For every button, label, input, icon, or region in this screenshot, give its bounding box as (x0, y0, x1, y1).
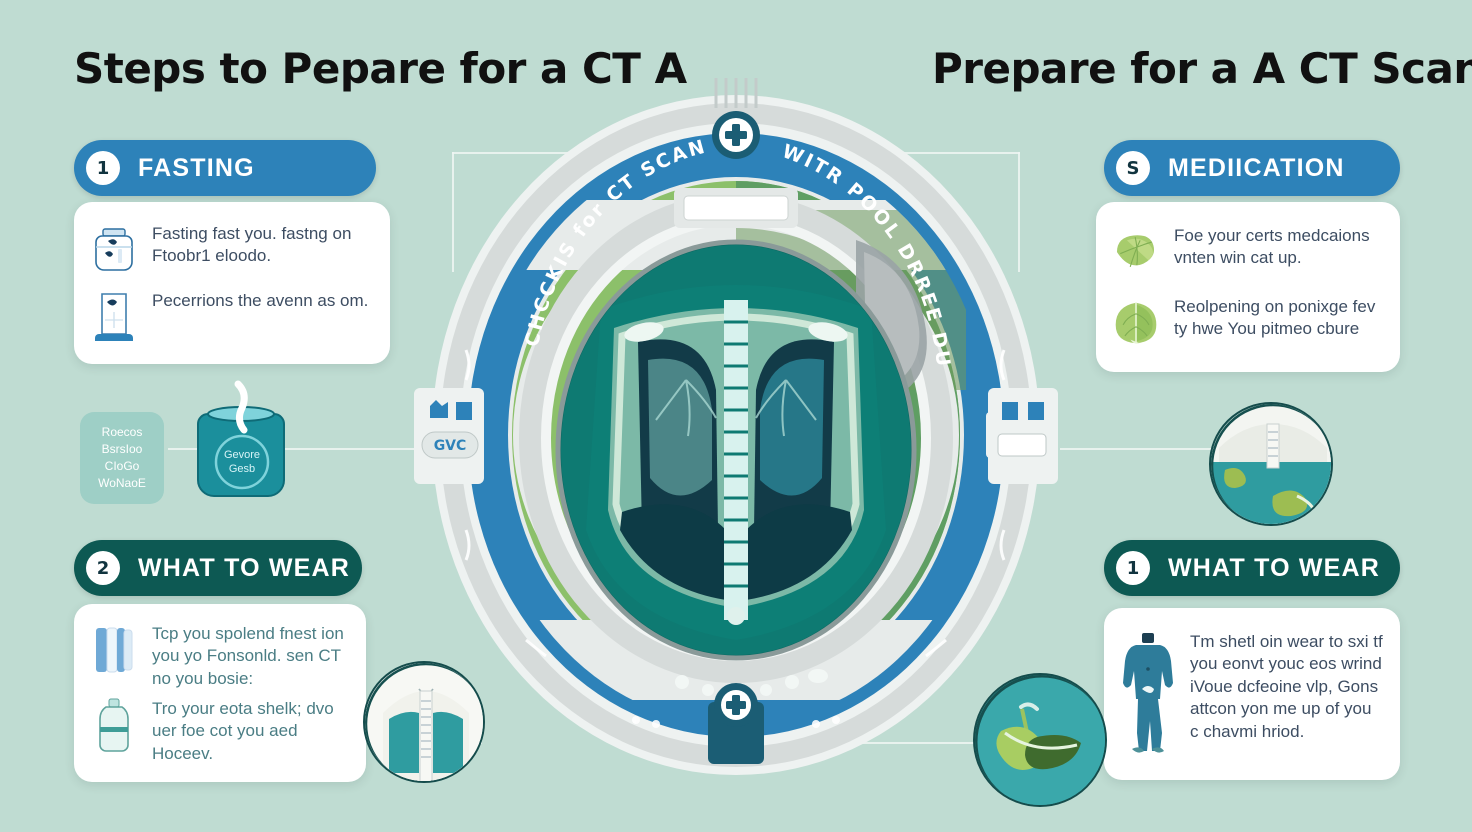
bag-label-line-1: Gevore (224, 449, 260, 461)
item-text: Reolpening on ponixge fev ty hwe You pit… (1174, 294, 1384, 341)
left-ring-module: GVC (414, 388, 484, 484)
list-item: Reolpening on ponixge fev ty hwe You pit… (1112, 294, 1384, 352)
item-text: Pecerrions the avenn as om. (152, 288, 368, 312)
leaf-cluster-icon (1112, 223, 1160, 281)
list-item: Fasting fast you. fastng on Ftoobr1 eloo… (90, 221, 374, 279)
item-text: Tm shetl oin wear to sxi tf you eonvt yo… (1190, 629, 1384, 743)
section-badge: 1 (1116, 551, 1150, 585)
section-badge: 2 (86, 551, 120, 585)
list-item: Tro your eota shelk; dvo uer foe cot you… (90, 696, 350, 765)
folded-gown-icon (90, 621, 138, 679)
list-item: Foe your certs medcaions vnten win cat u… (1112, 223, 1384, 281)
right-ring-module (988, 388, 1058, 484)
section-header-what-to-wear-left[interactable]: 2 WHAT TO WEAR (74, 540, 362, 596)
item-text: Fasting fast you. fastng on Ftoobr1 eloo… (152, 221, 374, 268)
water-bag-chip: Roecos BsrsIoo CIoGo WoNaoE (80, 412, 164, 504)
chip-line: BsrsIoo (102, 442, 143, 457)
item-text: Tro your eota shelk; dvo uer foe cot you… (152, 696, 350, 765)
hospital-gown-circle-icon (363, 661, 485, 783)
section-title: FASTING (138, 154, 255, 183)
card-what-to-wear-left: Tcp you spolend fnest ion you yo Fonsonl… (74, 604, 366, 782)
infographic-canvas: Steps to Pepare for a CT A Prepare for a… (0, 0, 1472, 832)
section-header-what-to-wear-right[interactable]: 1 WHAT TO WEAR (1104, 540, 1400, 596)
section-header-fasting[interactable]: 1 FASTING (74, 140, 376, 196)
chip-line: WoNaoE (98, 476, 146, 491)
human-body-icon (1120, 629, 1176, 759)
gown-torso-circle-icon (1209, 402, 1333, 526)
section-badge: S (1116, 151, 1150, 185)
card-what-to-wear-right: Tm shetl oin wear to sxi tf you eonvt yo… (1104, 608, 1400, 780)
card-fasting: Fasting fast you. fastng on Ftoobr1 eloo… (74, 202, 390, 364)
chip-line: CIoGo (105, 459, 140, 474)
water-jar-icon (90, 221, 138, 279)
section-title: WHAT TO WEAR (1168, 554, 1380, 583)
water-bag-icon: Gevore Gesb (176, 378, 306, 518)
chip-line: Roecos (102, 425, 143, 440)
bag-label-line-2: Gesb (229, 463, 255, 475)
list-item: Tcp you spolend fnest ion you yo Fonsonl… (90, 621, 350, 690)
leaf-circle-icon (973, 673, 1107, 807)
list-item: Pecerrions the avenn as om. (90, 288, 374, 346)
section-title: WHAT TO WEAR (138, 554, 350, 583)
list-item: Tm shetl oin wear to sxi tf you eonvt yo… (1120, 629, 1384, 759)
left-module-label: GVC (434, 438, 467, 454)
section-badge: 1 (86, 151, 120, 185)
section-header-medication[interactable]: S MEDIICATION (1104, 140, 1400, 196)
water-glass-icon (90, 288, 138, 346)
item-text: Foe your certs medcaions vnten win cat u… (1174, 223, 1384, 270)
water-bottle-icon (90, 696, 138, 754)
item-text: Tcp you spolend fnest ion you yo Fonsonl… (152, 621, 350, 690)
ct-scanner-diagram: CHCCKIS for CT SCAN WITR POOL DRREE DULT (386, 60, 1086, 800)
leaf-icon (1112, 294, 1160, 352)
card-medication: Foe your certs medcaions vnten win cat u… (1096, 202, 1400, 372)
section-title: MEDIICATION (1168, 154, 1345, 183)
